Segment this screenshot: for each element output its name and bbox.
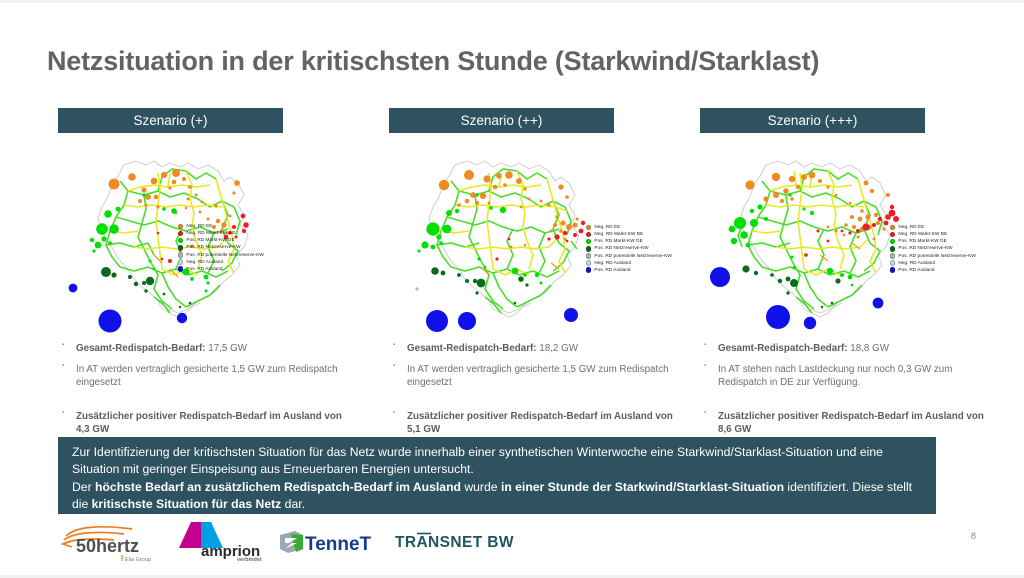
bullet-value: 18,2 GW bbox=[537, 343, 578, 354]
legend-dot-neg-rd-ausland bbox=[178, 259, 183, 264]
legend-item: Neg. RD Ausland bbox=[178, 258, 264, 265]
legend-label: Pos. RD Ausland bbox=[898, 268, 934, 273]
logo-transnet-bw-text: TRANSNET BW bbox=[395, 534, 514, 551]
logo-tennet: TenneT bbox=[278, 529, 382, 560]
grid-lines-green bbox=[738, 169, 882, 313]
legend-dot-pos-rd-potentielle-netzreserve-kw bbox=[890, 253, 895, 258]
logo-50hertz-svg: 50hertz Elia Group bbox=[58, 522, 170, 562]
legend-item: Pos. RD Markt-KW DE bbox=[890, 238, 976, 245]
legend-label: Pos. RD Markt-KW DE bbox=[594, 239, 642, 244]
legend-label: Neg. RD Ausland bbox=[594, 261, 631, 266]
bullet-list-2: Gesamt-Redispatch-Bedarf: 18,2 GW In AT … bbox=[389, 342, 689, 437]
logo-transnet-bw-svg: TRANSNET BW bbox=[395, 531, 545, 553]
legend-dot-neg-rd-markt-kw-de bbox=[586, 232, 591, 237]
legend-label: Neg. RD EE bbox=[594, 225, 620, 230]
logo-50hertz-text: 50hertz bbox=[76, 536, 139, 556]
legend-item: Pos. RD Markt-KW DE bbox=[178, 237, 264, 244]
legend-dot-neg-rd-ee bbox=[178, 224, 183, 229]
bullet-label: Gesamt-Redispatch-Bedarf: bbox=[76, 343, 206, 354]
legend-label: Pos. RD Markt-KW DE bbox=[898, 239, 946, 244]
legend-item: Neg. RD Ausland bbox=[890, 259, 976, 266]
page-title: Netzsituation in der kritischsten Stunde… bbox=[47, 46, 819, 77]
bullet-additional-demand: Zusätzlicher positiver Redispatch-Bedarf… bbox=[700, 410, 1000, 437]
bullet-at-note: In AT werden vertraglich gesicherte 1,5 … bbox=[389, 363, 689, 390]
scenario-header-3: Szenario (+++) bbox=[700, 108, 925, 133]
legend-dot-neg-rd-ausland bbox=[890, 260, 895, 265]
legend-label: Pos. RD Ausland bbox=[186, 267, 222, 272]
legend-dot-neg-rd-markt-kw-de bbox=[178, 231, 183, 236]
scenario-column-3: Szenario (+++) bbox=[700, 108, 1000, 444]
legend-item: Pos. RD potentielle Netzreserve-KW bbox=[890, 252, 976, 259]
scenario-header-1: Szenario (+) bbox=[58, 108, 283, 133]
legend-dot-pos-rd-netzreserve-kw bbox=[586, 246, 591, 251]
legend-item: Neg. RD Ausland bbox=[586, 259, 672, 266]
legend-item: Neg. RD EE bbox=[586, 224, 672, 231]
bullet-label: Gesamt-Redispatch-Bedarf: bbox=[718, 343, 848, 354]
callout-seg-a: Der bbox=[72, 480, 95, 494]
bullet-total-demand: Gesamt-Redispatch-Bedarf: 18,8 GW bbox=[700, 342, 1000, 356]
callout-seg-b: höchste Bedarf an zusätzlichem Redispatc… bbox=[95, 480, 461, 494]
grid-map-3: Neg. RD EE Neg. RD Markt-KW DE Pos. RD M… bbox=[700, 151, 1000, 336]
logo-amprion-svg: amprion verbindet bbox=[175, 518, 271, 562]
legend-label: Neg. RD EE bbox=[186, 224, 212, 229]
legend-dot-pos-rd-markt-kw-de bbox=[178, 238, 183, 243]
bullet-additional-demand: Zusätzlicher positiver Redispatch-Bedarf… bbox=[389, 410, 689, 437]
callout-seg-d: in einer Stunde der Starkwind/Starklast-… bbox=[501, 480, 784, 494]
legend-item: Pos. RD Netzreserve-KW bbox=[890, 245, 976, 252]
map-legend-3: Neg. RD EE Neg. RD Markt-KW DE Pos. RD M… bbox=[890, 224, 976, 274]
legend-dot-neg-rd-ee bbox=[890, 225, 895, 230]
legend-item: Pos. RD Netzreserve-KW bbox=[586, 245, 672, 252]
logo-amprion-subtext: verbindet bbox=[237, 557, 262, 562]
summary-callout: Zur Identifizierung der kritischsten Sit… bbox=[58, 437, 936, 514]
legend-dot-pos-rd-potentielle-netzreserve-kw bbox=[586, 253, 591, 258]
legend-dot-pos-rd-ausland bbox=[890, 267, 895, 272]
legend-label: Neg. RD Markt-KW DE bbox=[898, 232, 947, 237]
grid-lines-yellow bbox=[441, 171, 567, 275]
legend-item: Pos. RD Netzreserve-KW bbox=[178, 244, 264, 251]
bullet-total-demand: Gesamt-Redispatch-Bedarf: 18,2 GW bbox=[389, 342, 689, 356]
logo-50hertz: 50hertz Elia Group bbox=[58, 522, 170, 567]
legend-label: Pos. RD Ausland bbox=[594, 268, 630, 273]
legend-label: Pos. RD potentielle Netzreserve-KW bbox=[186, 253, 264, 258]
legend-dot-pos-rd-markt-kw-de bbox=[586, 239, 591, 244]
legend-dot-pos-rd-netzreserve-kw bbox=[890, 246, 895, 251]
logo-bar: 50hertz Elia Group amprion verbindet Ten… bbox=[50, 518, 550, 566]
redispatch-nodes bbox=[710, 172, 899, 330]
bullet-at-note: In AT werden vertraglich gesicherte 1,5 … bbox=[58, 363, 358, 390]
legend-dot-pos-rd-potentielle-netzreserve-kw bbox=[178, 252, 183, 257]
legend-label: Pos. RD Netzreserve-KW bbox=[898, 246, 952, 251]
bullet-list-3: Gesamt-Redispatch-Bedarf: 18,8 GW In AT … bbox=[700, 342, 1000, 437]
bullet-total-demand: Gesamt-Redispatch-Bedarf: 17,5 GW bbox=[58, 342, 358, 356]
legend-dot-pos-rd-markt-kw-de bbox=[890, 239, 895, 244]
slide: Netzsituation in der kritischsten Stunde… bbox=[0, 0, 1024, 578]
legend-item: Neg. RD EE bbox=[178, 223, 264, 230]
scenario-header-2: Szenario (++) bbox=[389, 108, 614, 133]
legend-label: Pos. RD Markt-KW DE bbox=[186, 238, 234, 243]
bullet-value: 18,8 GW bbox=[848, 343, 889, 354]
scenario-column-2: Szenario (++) bbox=[389, 108, 689, 444]
legend-label: Pos. RD Netzreserve-KW bbox=[186, 245, 240, 250]
legend-dot-pos-rd-netzreserve-kw bbox=[178, 245, 183, 250]
legend-item: Pos. RD Ausland bbox=[586, 267, 672, 274]
grid-map-1: Neg. RD EE Neg. RD Markt-KW DE Pos. RD M… bbox=[58, 151, 358, 336]
grid-map-2: Neg. RD EE Neg. RD Markt-KW DE Pos. RD M… bbox=[389, 151, 689, 336]
legend-item: Neg. RD Markt-KW DE bbox=[890, 231, 976, 238]
legend-item: Neg. RD EE bbox=[890, 224, 976, 231]
legend-label: Neg. RD Ausland bbox=[898, 261, 935, 266]
legend-dot-neg-rd-ausland bbox=[586, 260, 591, 265]
bullet-list-1: Gesamt-Redispatch-Bedarf: 17,5 GW In AT … bbox=[58, 342, 358, 437]
legend-item: Pos. RD Markt-KW DE bbox=[586, 238, 672, 245]
page-number: 8 bbox=[971, 531, 976, 542]
scenario-column-1: Szenario (+) bbox=[58, 108, 358, 444]
callout-line-1: Zur Identifizierung der kritischsten Sit… bbox=[72, 444, 924, 479]
logo-50hertz-subtext: Elia Group bbox=[125, 557, 151, 562]
legend-item: Pos. RD Ausland bbox=[178, 266, 264, 273]
bullet-label: Gesamt-Redispatch-Bedarf: bbox=[407, 343, 537, 354]
legend-item: Pos. RD potentielle Netzreserve-KW bbox=[586, 252, 672, 259]
logo-amprion: amprion verbindet bbox=[175, 518, 271, 567]
legend-dot-pos-rd-ausland bbox=[178, 266, 183, 271]
legend-dot-neg-rd-markt-kw-de bbox=[890, 232, 895, 237]
legend-label: Pos. RD Netzreserve-KW bbox=[594, 246, 648, 251]
logo-tennet-svg: TenneT bbox=[278, 529, 382, 555]
map-legend-2: Neg. RD EE Neg. RD Markt-KW DE Pos. RD M… bbox=[586, 224, 672, 274]
bullet-value: 17,5 GW bbox=[206, 343, 247, 354]
legend-label: Neg. RD Markt-KW DE bbox=[594, 232, 643, 237]
callout-line-2: Der höchste Bedarf an zusätzlichem Redis… bbox=[72, 479, 924, 514]
legend-item: Pos. RD Ausland bbox=[890, 267, 976, 274]
legend-dot-neg-rd-ee bbox=[586, 225, 591, 230]
legend-label: Pos. RD potentielle Netzreserve-KW bbox=[898, 254, 976, 259]
legend-label: Neg. RD EE bbox=[898, 225, 924, 230]
legend-item: Pos. RD potentielle Netzreserve-KW bbox=[178, 251, 264, 258]
legend-label: Pos. RD potentielle Netzreserve-KW bbox=[594, 254, 672, 259]
legend-item: Neg. RD Markt-KW DE bbox=[586, 231, 672, 238]
callout-seg-c: wurde bbox=[461, 480, 501, 494]
callout-seg-f: kritischste Situation für das Netz bbox=[92, 497, 282, 511]
callout-seg-g: dar. bbox=[281, 497, 305, 511]
bullet-additional-demand: Zusätzlicher positiver Redispatch-Bedarf… bbox=[58, 410, 358, 437]
legend-label: Neg. RD Ausland bbox=[186, 260, 223, 265]
legend-item: Neg. RD Markt-KW DE bbox=[178, 230, 264, 237]
legend-dot-pos-rd-ausland bbox=[586, 267, 591, 272]
logo-tennet-text: TenneT bbox=[305, 534, 372, 555]
grid-lines-yellow bbox=[752, 171, 876, 275]
legend-label: Neg. RD Markt-KW DE bbox=[186, 231, 235, 236]
map-legend-1: Neg. RD EE Neg. RD Markt-KW DE Pos. RD M… bbox=[178, 223, 264, 273]
bullet-at-note: In AT stehen nach Lastdeckung nur noch 0… bbox=[700, 363, 1000, 390]
top-divider bbox=[0, 0, 1024, 3]
logo-transnet-bw: TRANSNET BW bbox=[395, 531, 545, 558]
